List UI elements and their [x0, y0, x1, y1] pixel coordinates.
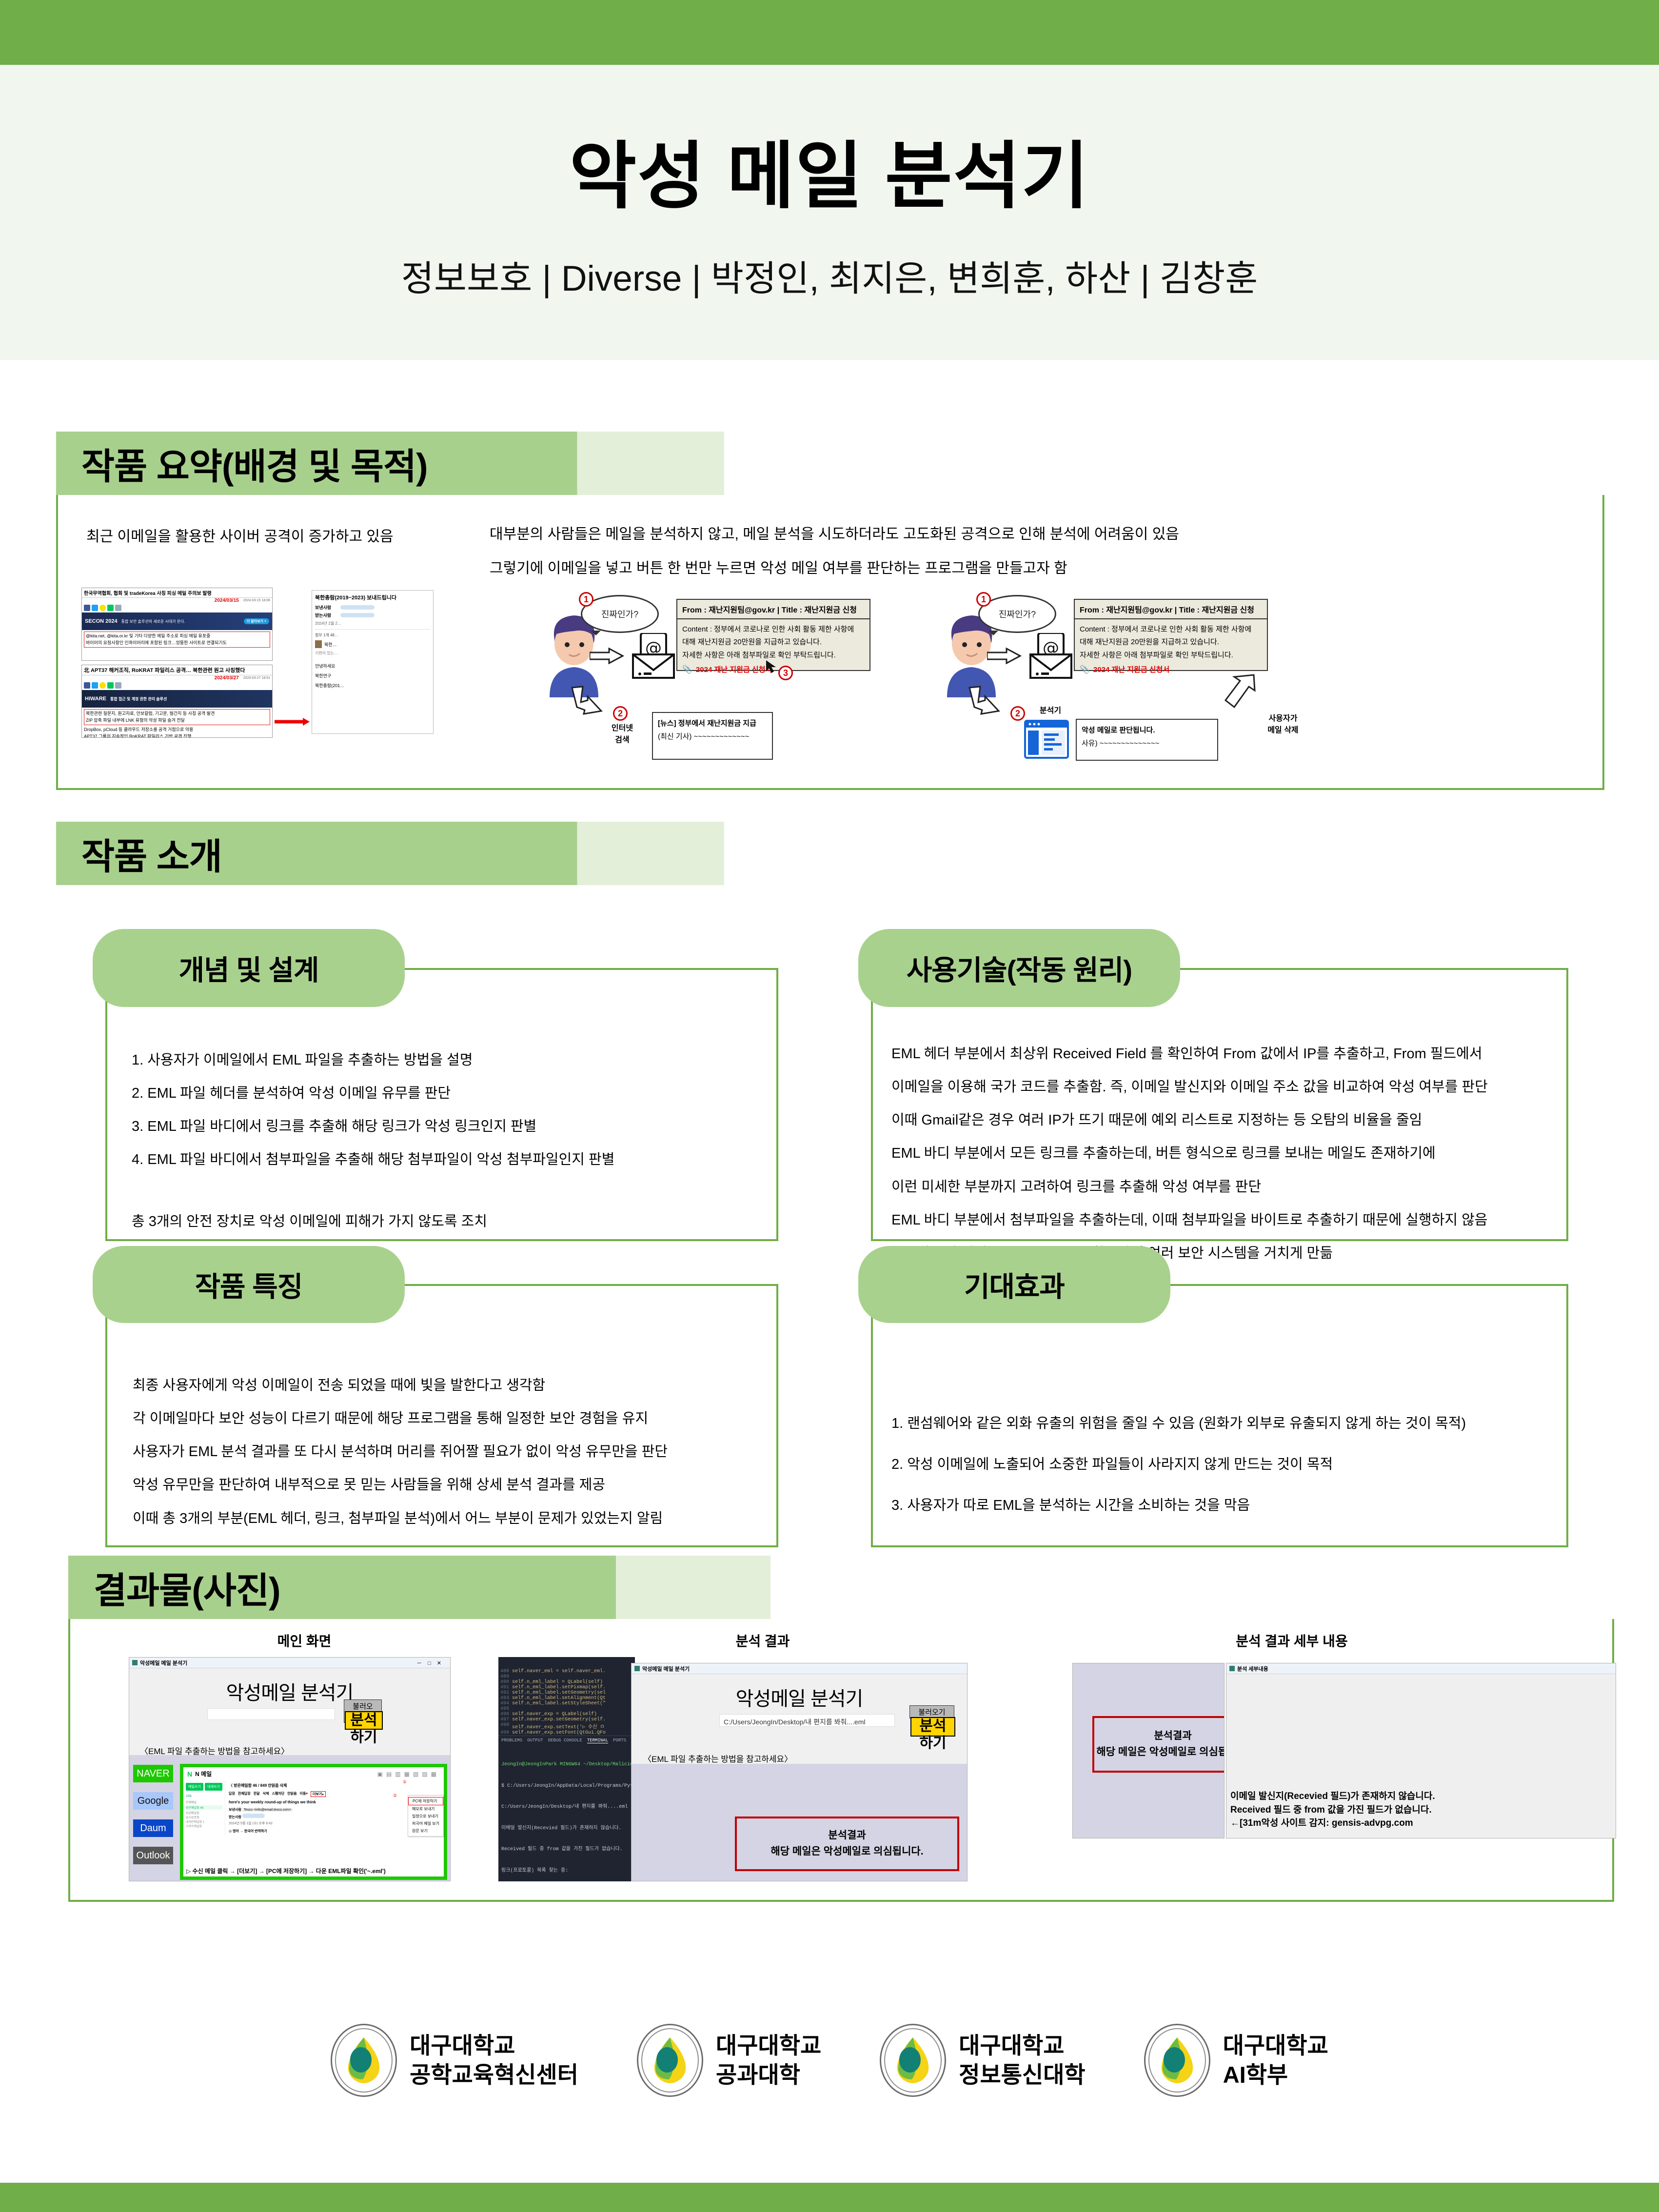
- news-bullets-2-plain: DropBox, pCloud 등 클라우드 저장소를 공격 거점으로 악용 A…: [84, 727, 270, 738]
- step-badge-1: 1: [579, 592, 593, 607]
- email-attachment-link[interactable]: 2024 재난 지원금 신청서: [696, 664, 772, 676]
- term-line-2: $ C:/Users/JeongIn/AppData/Local/Program…: [501, 1783, 632, 1790]
- detail-line-1: 이메일 발신지(Recevied 필드)가 존재하지 않습니다.: [1226, 1790, 1617, 1803]
- mail-breadcrumb: 〈 받은메일함 46 / 849 안읽음 삭제: [229, 1783, 440, 1788]
- kakao-icon: [99, 682, 106, 689]
- email-envelope-icon: @: [631, 633, 676, 680]
- news-date-small-1: 2024-03-15 18:06: [243, 599, 272, 602]
- analysis-result-line-1: 분석결과: [828, 1828, 866, 1844]
- delete-mail-label: 사용자가 메일 삭제: [1251, 713, 1315, 736]
- tech-line-2: 이메일을 이용해 국가 코드를 추출함. 즉, 이메일 발신지와 이메일 주소 …: [891, 1070, 1564, 1104]
- tab-ports[interactable]: PORTS: [613, 1738, 626, 1743]
- step-badge-3: 3: [778, 666, 793, 680]
- btn-move[interactable]: 이동▾: [300, 1791, 308, 1797]
- code-line-no: 495: [500, 1706, 509, 1712]
- receiver-chip: [340, 613, 375, 617]
- arrow-down-right-icon: [968, 686, 1010, 721]
- caption-analysis-detail: 분석 결과 세부 내용: [1175, 1631, 1409, 1650]
- code-line-text: self.naver_exp = QLabel(self): [512, 1712, 597, 1717]
- concept-footer: 총 3개의 안전 장치로 악성 이메일에 피해가 가지 않도록 조치: [132, 1205, 766, 1238]
- card-concept: 개념 및 설계 1. 사용자가 이메일에서 EML 파일을 추출하는 방법을 설…: [88, 929, 780, 1236]
- mail-attach-note: 기한이 있는…: [315, 651, 430, 656]
- university-logo-row: 대구대학교 공학교육혁신센터 대구대학교 공과대학: [0, 2004, 1659, 2116]
- code-line: 491self.n_eml_label.setPixmap(self.: [498, 1685, 635, 1690]
- bottom-green-band: [0, 2183, 1659, 2212]
- summary-lead-left: 최근 이메일을 활용한 사이버 공격이 증가하고 있음: [86, 524, 394, 546]
- code-line-no: 499: [500, 1730, 509, 1736]
- email-body-line-3: 자세한 사항은 아래 첨부파일로 확인 부탁드립니다.: [1080, 649, 1262, 662]
- twitter-icon: [92, 682, 98, 689]
- email-header-line: From : 재난지원팀@gov.kr | Title : 재난지원금 신청: [677, 600, 869, 619]
- naver-icon: [107, 605, 114, 611]
- step-badge-2: 2: [1010, 706, 1025, 721]
- logo-college-ict: 대구대학교 정보통신대학: [880, 2024, 1085, 2097]
- top-green-band: [0, 0, 1659, 65]
- provider-google[interactable]: Google: [133, 1792, 173, 1810]
- card-concept-pill: 개념 및 설계: [93, 929, 405, 1007]
- caption-main-screen: 메인 화면: [231, 1631, 377, 1650]
- analyze-button[interactable]: 분석하기: [910, 1717, 955, 1737]
- code-line-text: self.naver_eml = self.naver_eml.: [512, 1669, 606, 1674]
- tab-terminal[interactable]: TERMINAL: [587, 1738, 608, 1743]
- code-line-no: 491: [500, 1685, 509, 1690]
- provider-daum[interactable]: Daum: [133, 1819, 173, 1837]
- screenshot-detail-window: 분석 세부내용 이메일 발신지(Recevied 필드)가 존재하지 않습니다.…: [1226, 1663, 1616, 1838]
- menu-send-memo[interactable]: 메모로 보내기: [408, 1805, 443, 1813]
- analysis-result-box: 분석결과 해당 메일은 악성메일로 의심됩니다.: [735, 1817, 959, 1871]
- section-summary-body: 최근 이메일을 활용한 사이버 공격이 증가하고 있음 대부분의 사람들은 메일…: [56, 495, 1604, 790]
- naver-mail-mock: N N 메일 ▣▤▥▦▧▨▩ 메일쓰기 내게쓰기 106 전체메일 받은메: [180, 1764, 447, 1880]
- code-line-no: 494: [500, 1701, 509, 1706]
- ad-brand-2: HIWARE: [85, 696, 106, 702]
- card-concept-title: 개념 및 설계: [179, 948, 319, 988]
- section-results-header: 결과물(사진): [68, 1556, 1614, 1619]
- naver-icon: [107, 682, 114, 689]
- daegu-university-seal-icon: [637, 2024, 703, 2097]
- section-results: 결과물(사진) 메인 화면 분석 결과 분석 결과 세부 내용 악성메일 메일 …: [68, 1556, 1614, 1902]
- window-titlebar: 악성메일 메일 분석기: [632, 1663, 967, 1674]
- detail-line-2: Received 필드 중 from 값을 가진 필드가 없습니다.: [1226, 1803, 1617, 1817]
- result-pane: 분석결과 해당 메일은 악성메일로 의심됩니다.: [632, 1764, 968, 1881]
- facebook-icon: [84, 605, 90, 611]
- verdict-line-2: 사유) ~~~~~~~~~~~~~~: [1082, 737, 1212, 750]
- sns-icon-row-1: [82, 603, 272, 612]
- analyze-button[interactable]: 분석하기: [345, 1711, 383, 1730]
- effects-line-2: 2. 악성 이메일에 노출되어 소중한 파일들이 사라지지 않게 만드는 것이 …: [891, 1444, 1569, 1485]
- step-badge-1: ①: [403, 1779, 407, 1785]
- compose-button[interactable]: 메일쓰기: [186, 1783, 203, 1791]
- section-intro-title: 작품 소개: [56, 828, 222, 880]
- thought-bubble-text: 진짜인가?: [999, 608, 1036, 620]
- facebook-icon: [84, 682, 90, 689]
- section-intro: 작품 소개: [56, 822, 778, 885]
- news-date-2: 2024/03/27: [215, 675, 241, 681]
- code-line-no: 489: [500, 1674, 509, 1679]
- window-title: 악성메일 메일 분석기: [642, 1665, 690, 1673]
- code-line-no: 498: [500, 1722, 509, 1730]
- code-line-no: 496: [500, 1712, 509, 1717]
- news-date-1: 2024/03/15: [215, 598, 241, 603]
- folder-all[interactable]: 전체메일: [186, 1800, 222, 1804]
- btn-delete[interactable]: 삭제: [263, 1791, 269, 1797]
- poster-header: 악성 메일 분석기 정보보호 | Diverse | 박정인, 최지은, 변희훈…: [0, 65, 1659, 360]
- card-tech-pill: 사용기술(작동 원리): [858, 929, 1180, 1007]
- menu-foreign-mail[interactable]: 외국어 메일 보기: [408, 1820, 443, 1827]
- news-bullet-2-3: DropBox, pCloud 등 클라우드 저장소를 공격 거점으로 악용: [84, 727, 270, 733]
- daegu-university-seal-icon: [331, 2024, 397, 2097]
- naver-mail-main: 〈 받은메일함 46 / 849 안읽음 삭제 답장 전체답장 전달 삭제 스팸…: [225, 1780, 444, 1836]
- folder-inbox[interactable]: 받은메일함 46: [186, 1805, 222, 1810]
- section-results-body: 메인 화면 분석 결과 분석 결과 세부 내용 악성메일 메일 분석기 －□✕ …: [68, 1619, 1614, 1902]
- flow-diagram-after: 진짜인가? 1 @ From : 재난지원팀@gov.kr | Title : …: [943, 590, 1333, 751]
- folder-smart[interactable]: 스마트메일함: [186, 1824, 222, 1828]
- features-line-4: 악성 유무만을 판단하여 내부적으로 못 믿는 사람들을 위해 상세 분석 결과…: [133, 1468, 767, 1501]
- tech-line-4: EML 바디 부분에서 모든 링크를 추출하는데, 버튼 형식으로 링크를 보내…: [891, 1137, 1564, 1170]
- logo-line-2: 정보통신대학: [959, 2060, 1085, 2090]
- logo-line-1: 대구대학교: [716, 2031, 821, 2060]
- btn-reply-all[interactable]: 전체답장: [238, 1791, 251, 1797]
- code-line: 493self.n_eml_label.setAlignment(Qt: [498, 1696, 635, 1701]
- news-result-line-2: (최신 기사) ~~~~~~~~~~~~~: [658, 730, 767, 743]
- mail-preview-title: 북한총람(2019~2023) 보내드립니다: [315, 593, 430, 601]
- features-line-2: 각 이메일마다 보안 성능이 다르기 때문에 해당 프로그램을 통해 일정한 보…: [133, 1402, 767, 1435]
- provider-outlook[interactable]: Outlook: [133, 1847, 173, 1864]
- code-line: 497self.naver_exp.setGeometry(self.: [498, 1717, 635, 1722]
- logo-line-1: 대구대학교: [1223, 2031, 1328, 2060]
- twitter-icon: [92, 605, 98, 611]
- daegu-university-seal-icon: [1144, 2024, 1210, 2097]
- btn-reply[interactable]: 답장: [229, 1791, 235, 1797]
- detail-result-box: 분석결과 해당 메일은 악성메일로 의심됩니다.: [1092, 1716, 1224, 1773]
- window-controls[interactable]: －□✕: [416, 1659, 447, 1667]
- detail-result-line-2: 해당 메일은 악성메일로 의심됩니다.: [1096, 1744, 1224, 1760]
- logo-line-1: 대구대학교: [410, 2031, 578, 2060]
- logo-line-2: 공과대학: [716, 2060, 821, 2090]
- logo-engineering-center: 대구대학교 공학교육혁신센터: [331, 2024, 578, 2097]
- mouse-cursor-icon: [765, 659, 778, 674]
- window-titlebar: 분석 세부내용: [1226, 1663, 1616, 1674]
- mail-sender-label: 보낸사람: [315, 604, 337, 611]
- code-line-text: self.n_eml_label = QLabel(self): [512, 1679, 603, 1685]
- arrow-right-icon: [987, 648, 1022, 664]
- analysis-result-line-2: 해당 메일은 악성메일로 의심됩니다.: [770, 1844, 923, 1860]
- news-ad-banner-2: HIWARE 통합 접근 및 계정 권한 관리 솔루션: [82, 690, 272, 708]
- eml-steps-footer: ▷ 수신 메일 클릭 → [더보기] → [PC에 저장하기] → 다운 EML…: [183, 1865, 444, 1876]
- effects-line-1: 1. 랜섬웨어와 같은 외화 유출의 위험을 줄일 수 있음 (원화가 외부로 …: [891, 1403, 1569, 1444]
- code-line: 492self.n_eml_label.setGeometry(sel: [498, 1690, 635, 1696]
- code-line: 488self.naver_eml = self.naver_eml.: [498, 1669, 635, 1674]
- news-headline-2: 北 APT37 해커조직, RoKRAT 파일리스 공격… 북한관련 원고 사칭…: [82, 665, 272, 675]
- email-body-line-2: 대해 재난지원금 20만원을 지급하고 있습니다.: [682, 636, 865, 649]
- self-compose-button[interactable]: 내게쓰기: [205, 1783, 222, 1791]
- tech-line-3: 이때 Gmail같은 경우 여러 IP가 뜨기 때문에 예외 리스트로 지정하는…: [891, 1104, 1564, 1137]
- ad-title-2: 통합 접근 및 계정 권한 관리 솔루션: [110, 696, 167, 702]
- email-body-line-2: 대해 재난지원금 20만원을 지급하고 있습니다.: [1080, 636, 1262, 649]
- code-line-no: 492: [500, 1690, 509, 1696]
- email-envelope-icon: @: [1028, 633, 1073, 680]
- term-line-1: JeongIn@JeongInPark MINGW64 ~/Desktop/Ma…: [501, 1761, 632, 1769]
- btn-unread[interactable]: 안읽음: [287, 1791, 296, 1797]
- logo-line-1: 대구대학교: [959, 2031, 1085, 2060]
- caption-analysis-result: 분석 결과: [685, 1631, 841, 1650]
- menu-send-calendar[interactable]: 일정으로 보내기: [408, 1813, 443, 1820]
- news-search-result-card: [뉴스] 정부에서 재난지원금 지급 (최신 기사) ~~~~~~~~~~~~~: [652, 712, 773, 760]
- mail-attach-name: 북한…: [324, 641, 337, 648]
- window-title: 분석 세부내용: [1237, 1665, 1268, 1673]
- flow-diagram-before: 진짜인가? 1 @ From : 재난지원팀@gov.kr | Title : …: [546, 590, 936, 751]
- news-bullet-1-2: 바이어의 요청사항인 인콰이어리에 포함된 링크…엉뚱한 사이트로 연결되기도: [86, 640, 268, 647]
- unread-count: 106: [186, 1795, 222, 1798]
- btn-forward[interactable]: 전달: [254, 1791, 260, 1797]
- term-line-4: 이메일 발신지(Recevied 필드)가 존재하지 않습니다.: [501, 1825, 632, 1833]
- term-line-5: Received 필드 중 from 값을 가진 필드가 없습니다.: [501, 1846, 632, 1854]
- app-icon: [132, 1660, 138, 1665]
- analyzer-app-icon: [1024, 720, 1069, 759]
- code-line: 498self.naver_exp.setText('▷ 수신 ㅁ: [498, 1722, 635, 1730]
- logo-text: 대구대학교 정보통신대학: [959, 2031, 1085, 2090]
- kakao-icon: [99, 605, 106, 611]
- logo-ai-department: 대구대학교 AI학부: [1144, 2024, 1328, 2097]
- poster-subtitle: 정보보호 | Diverse | 박정인, 최지은, 변희훈, 하산 | 김창훈: [401, 250, 1258, 301]
- mail-preview-date: 2024년 2월 2…: [315, 621, 430, 626]
- features-line-1: 최종 사용자에게 악성 이메일이 전송 되었을 때에 빛을 발한다고 생각함: [133, 1369, 767, 1402]
- news-ad-banner-1: SECON 2024 통합 보안 솔루션의 새로운 시대가 온다. 더 알아보기…: [82, 612, 272, 630]
- news-bullet-2-2: ZIP 압축 파일 내부에 LNK 유형의 악성 파일 숨겨 전달: [86, 717, 268, 724]
- mail-receiver-label: 받는사람: [315, 612, 337, 618]
- logo-college-engineering: 대구대학교 공과대학: [637, 2024, 821, 2097]
- mail-body-line-3: 북한총람(201…: [315, 681, 430, 691]
- btn-spam[interactable]: 스팸차단: [272, 1791, 284, 1797]
- detail-line-3: ←[31m악성 사이트 감지: gensis-advpg.com: [1226, 1817, 1617, 1830]
- thought-bubble-text: 진짜인가?: [601, 608, 638, 620]
- paperclip-icon: 📎: [1080, 663, 1089, 677]
- mail-body-line-2: 북한연구: [315, 671, 430, 681]
- app-icon: [1229, 1666, 1235, 1671]
- logo-text: 대구대학교 공과대학: [716, 2031, 821, 2090]
- app-icon: [634, 1666, 640, 1671]
- verdict-line-1: 악성 메일로 판단됩니다.: [1082, 724, 1212, 737]
- code-line-text: self.naver_exp.setFont(QtGui.QFo: [512, 1730, 606, 1736]
- mail-body-line-1: 안녕하세요: [315, 662, 430, 671]
- folder-draft[interactable]: 임시보관함: [186, 1815, 222, 1819]
- code-line: 494self.n_eml_label.setStyleSheet(": [498, 1701, 635, 1706]
- news-headline-1: 한국무역협회, 협회 및 tradeKorea 사칭 피싱 메일 주의보 발령: [82, 588, 272, 598]
- effects-line-3: 3. 사용자가 따로 EML을 분석하는 시간을 소비하는 것을 막음: [891, 1485, 1569, 1526]
- ad-title-1: SECON 2024: [85, 618, 118, 624]
- logo-line-2: AI학부: [1223, 2060, 1328, 2090]
- share-icon: [115, 682, 121, 689]
- email-attachment-link[interactable]: 2024 재난 지원금 신청서: [1093, 664, 1169, 676]
- detail-result-line-1: 분석결과: [1154, 1728, 1191, 1744]
- card-effects-title: 기대효과: [964, 1264, 1065, 1304]
- news-bullet-2-1: 북한관련 질문지, 원고자료, 안보칼럼, 기고문, 월간지 등 사칭 공격 발…: [86, 711, 268, 717]
- receiver-chip: [242, 1814, 265, 1818]
- news-date-small-2: 2024-03-27 18:51: [243, 676, 272, 680]
- sns-icon-row-2: [82, 681, 272, 690]
- concept-item-2: 2. EML 파일 헤더를 분석하여 악성 이메일 유무를 판단: [132, 1077, 766, 1110]
- code-line-text: self.n_eml_label.setAlignment(Qt: [512, 1696, 606, 1701]
- app-heading: 악성메일 분석기: [129, 1677, 450, 1705]
- phishing-email-card: From : 재난지원팀@gov.kr | Title : 재난지원금 신청 C…: [1074, 599, 1268, 671]
- code-line: 495: [498, 1706, 635, 1712]
- tab-debug-console[interactable]: DEBUG CONSOLE: [548, 1738, 582, 1743]
- load-button[interactable]: 불러오기: [909, 1705, 954, 1718]
- news-bullets-2-red: 북한관련 질문지, 원고자료, 안보칼럼, 기고문, 월간지 등 사칭 공격 발…: [84, 709, 270, 725]
- concept-item-3: 3. EML 파일 바디에서 링크를 추출해 해당 링크가 악성 링크인지 판별: [132, 1110, 766, 1143]
- toolbar-icons[interactable]: ▣▤▥▦▧▨▩: [377, 1771, 440, 1777]
- news-clipping-article-1: 한국무역협회, 협회 및 tradeKorea 사칭 피싱 메일 주의보 발령 …: [81, 588, 273, 661]
- email-body-line-1: Content : 정부에서 코로나로 인한 사회 활동 제한 사항에: [682, 623, 865, 636]
- code-line-text: self.naver_exp.setGeometry(self.: [512, 1717, 606, 1722]
- term-line-3: C:/Users/JeongIn/Desktop/내 편지를 봐줘....eml: [501, 1804, 632, 1811]
- sender-label: 보낸사람: [229, 1808, 241, 1812]
- attachment-file-icon: [315, 640, 322, 648]
- logo-text: 대구대학교 공학교육혁신센터: [410, 2031, 578, 2090]
- verdict-card: 악성 메일로 판단됩니다. 사유) ~~~~~~~~~~~~~~: [1076, 719, 1218, 761]
- ad-button-1[interactable]: 더 알아보기 >: [244, 618, 269, 624]
- naver-mail-sidebar: 메일쓰기 내게쓰기 106 전체메일 받은메일함 46 보낸메일함 임시보관함 …: [183, 1780, 225, 1836]
- logo-text: 대구대학교 AI학부: [1223, 2031, 1328, 2090]
- tab-problems[interactable]: PROBLEMS: [501, 1738, 522, 1743]
- code-line: 499self.naver_exp.setFont(QtGui.QFo: [498, 1730, 635, 1736]
- news-bullets-1: @kita.net, @kita.or.kr 및 기타 다양한 메일 주소로 피…: [84, 632, 270, 648]
- screenshot-code-editor: 488self.naver_eml = self.naver_eml. 489 …: [498, 1657, 635, 1881]
- eml-hint-text: 〈EML 파일 추출하는 방법을 참고하세요〉: [643, 1752, 792, 1764]
- screenshot-analysis-window: 악성메일 메일 분석기 악성메일 분석기 불러오기 분석하기 C:/Users/…: [631, 1663, 968, 1881]
- news-result-line-1: [뉴스] 정부에서 재난지원금 지급: [658, 717, 767, 730]
- card-tech: 사용기술(작동 원리) EML 헤더 부분에서 최상위 Received Fie…: [853, 929, 1570, 1236]
- ad-slogan-1: 통합 보안 솔루션의 새로운 시대가 온다.: [121, 619, 185, 624]
- tech-line-1: EML 헤더 부분에서 최상위 Received Field 를 확인하여 Fr…: [891, 1037, 1564, 1070]
- card-effects-pill: 기대효과: [858, 1246, 1170, 1323]
- section-intro-header: 작품 소개: [56, 822, 778, 885]
- provider-guide-pane: NAVER Google Daum Outlook N N 메일 ▣▤▥▦▧▨▩: [129, 1755, 451, 1881]
- card-tech-title: 사용기술(작동 원리): [907, 948, 1132, 988]
- tech-line-5: 이런 미세한 부분까지 고려하여 링크를 추출해 악성 여부를 판단: [891, 1170, 1564, 1204]
- email-body-line-1: Content : 정부에서 코로나로 인한 사회 활동 제한 사항에: [1080, 623, 1262, 636]
- code-line-no: 488: [500, 1669, 509, 1674]
- arrow-up-right-icon: [1224, 674, 1258, 716]
- features-line-3: 사용자가 EML 분석 결과를 또 다시 분석하며 머리를 쥐어짤 필요가 없이…: [133, 1435, 767, 1468]
- code-line-text: self.n_eml_label.setGeometry(sel: [512, 1690, 606, 1696]
- naver-logo-icon: N: [187, 1770, 192, 1778]
- daegu-university-seal-icon: [880, 2024, 946, 2097]
- folder-sent[interactable]: 보낸메일함: [186, 1811, 222, 1815]
- code-line-text: self.n_eml_label.setStyleSheet(": [512, 1701, 606, 1706]
- news-clipping-article-2: 北 APT37 해커조직, RoKRAT 파일리스 공격… 북한관련 원고 사칭…: [81, 665, 273, 738]
- terminal-output: JeongIn@JeongInPark MINGW64 ~/Desktop/Ma…: [498, 1745, 635, 1881]
- internet-search-label: 인터넷 검색: [606, 723, 638, 746]
- sender-value: Tesco <info@email.tesco.com>: [242, 1808, 293, 1812]
- summary-lead-right-2: 그렇기에 이메일을 넣고 버튼 한 번만 누르면 악성 메일 여부를 판단하는 …: [490, 556, 1067, 577]
- folder-self[interactable]: 내게쓴메일함 1: [186, 1819, 222, 1824]
- tech-line-6: EML 바디 부분에서 첨부파일을 추출하는데, 이때 첨부파일을 바이트로 추…: [891, 1204, 1564, 1237]
- arrow-down-right-icon: [571, 686, 613, 721]
- step-badge-2: ②: [393, 1793, 397, 1798]
- card-features: 작품 특징 최종 사용자에게 악성 이메일이 전송 되었을 때에 빛을 발한다고…: [88, 1246, 780, 1543]
- btn-more[interactable]: 더보기▴: [311, 1791, 326, 1797]
- arrow-right-icon: [590, 648, 625, 664]
- mail-preview-thumbnail: 북한총람(2019~2023) 보내드립니다 보낸사람 받는사람 2024년 2…: [312, 590, 434, 734]
- red-arrow-icon: [275, 717, 310, 727]
- code-line-no: 497: [500, 1717, 509, 1722]
- features-line-5: 이때 총 3개의 부분(EML 헤더, 링크, 첨부파일 분석)에서 어느 부분…: [133, 1502, 767, 1535]
- logo-line-2: 공학교육혁신센터: [410, 2060, 578, 2090]
- section-summary-header: 작품 요약(배경 및 목적): [56, 432, 1604, 495]
- card-features-title: 작품 특징: [195, 1264, 303, 1304]
- card-features-pill: 작품 특징: [93, 1246, 405, 1323]
- naver-mail-brand: N 메일: [195, 1770, 212, 1778]
- code-line: 490self.n_eml_label = QLabel(self): [498, 1679, 635, 1685]
- analyzer-label: 분석기: [1029, 705, 1072, 717]
- naver-mail-header: N N 메일 ▣▤▥▦▧▨▩: [183, 1767, 444, 1780]
- code-line-text: self.naver_exp.setText('▷ 수신 ㅁ: [512, 1722, 605, 1730]
- code-line: 489: [498, 1674, 635, 1679]
- concept-item-1: 1. 사용자가 이메일에서 EML 파일을 추출하는 방법을 설명: [132, 1044, 766, 1077]
- tab-output[interactable]: OUTPUT: [527, 1738, 543, 1743]
- file-path-input[interactable]: [207, 1708, 335, 1720]
- step-badge-1: 1: [976, 592, 991, 607]
- concept-item-4: 4. EML 파일 바디에서 첨부파일을 추출해 해당 첨부파일이 악성 첨부파…: [132, 1143, 766, 1176]
- receiver-label: 받는사람: [229, 1816, 241, 1819]
- share-icon: [115, 605, 121, 611]
- screenshot-main-window: 악성메일 메일 분석기 －□✕ 악성메일 분석기 불러오기 분석하기 〈EML …: [129, 1657, 451, 1881]
- news-bullet-2-4: APT37 그룹의 지속적인 RoKRAT 파일리스 기반 공격 진행: [84, 733, 270, 738]
- mail-attach-label: 첨부 1개 48…: [315, 632, 430, 638]
- file-path-input[interactable]: C:/Users/JeongIn/Desktop/내 편지를 봐줘....eml: [719, 1714, 895, 1727]
- window-title: 악성메일 메일 분석기: [140, 1659, 187, 1667]
- more-dropdown-menu[interactable]: PC에 저장하기 메모로 보내기 일정으로 보내기 외국어 메일 보기 원문 보…: [408, 1795, 444, 1837]
- email-header-line: From : 재난지원팀@gov.kr | Title : 재난지원금 신청: [1075, 600, 1267, 619]
- paperclip-icon: 📎: [682, 663, 692, 677]
- section-results-title: 결과물(사진): [68, 1561, 280, 1614]
- terminal-tabs[interactable]: PROBLEMS OUTPUT DEBUG CONSOLE TERMINAL P…: [498, 1736, 635, 1745]
- screenshot-detail-left-pane: 분석결과 해당 메일은 악성메일로 의심됩니다.: [1072, 1663, 1224, 1838]
- menu-save-to-pc[interactable]: PC에 저장하기: [408, 1797, 443, 1805]
- provider-naver[interactable]: NAVER: [133, 1765, 173, 1782]
- code-line: 496self.naver_exp = QLabel(self): [498, 1712, 635, 1717]
- section-summary-title: 작품 요약(배경 및 목적): [56, 437, 428, 490]
- news-bullet-1-1: @kita.net, @kita.or.kr 및 기타 다양한 메일 주소로 피…: [86, 633, 268, 640]
- code-line-no: 490: [500, 1679, 509, 1685]
- section-summary: 작품 요약(배경 및 목적) 최근 이메일을 활용한 사이버 공격이 증가하고 …: [56, 432, 1604, 790]
- window-titlebar: 악성메일 메일 분석기 －□✕: [129, 1658, 450, 1668]
- step-badge-2: 2: [613, 706, 628, 721]
- card-effects: 기대효과 1. 랜섬웨어와 같은 외화 유출의 위험을 줄일 수 있음 (원화가…: [853, 1246, 1570, 1543]
- page-title: 악성 메일 분석기: [569, 138, 1089, 215]
- summary-lead-right-1: 대부분의 사람들은 메일을 분석하지 않고, 메일 분석을 시도하더라도 고도화…: [490, 522, 1179, 543]
- sender-chip: [340, 605, 375, 610]
- code-line-text: self.n_eml_label.setPixmap(self.: [512, 1685, 606, 1690]
- code-line-no: 493: [500, 1696, 509, 1701]
- menu-view-source[interactable]: 원문 보기: [408, 1827, 443, 1835]
- term-line-6: 링크(프로토콜) 목록 찾는 중:: [501, 1868, 632, 1875]
